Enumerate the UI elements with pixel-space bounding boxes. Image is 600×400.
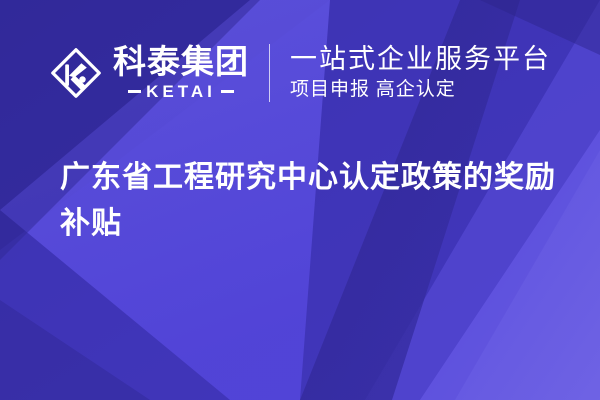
ketai-diamond-k-logo-icon	[49, 46, 103, 100]
tagline-secondary: 项目申报 高企认定	[290, 80, 551, 100]
title-block: 广东省工程研究中心认定政策的奖励补贴	[60, 155, 565, 247]
brand-name-en-row: KETAI	[128, 83, 234, 100]
tagline-primary: 一站式企业服务平台	[290, 45, 551, 73]
brand-name-cn: 科泰集团	[113, 45, 249, 78]
promo-banner: 科泰集团 KETAI 一站式企业服务平台 项目申报 高企认定 广东省工程研究中心…	[0, 0, 600, 400]
brand-lockup: 科泰集团 KETAI	[49, 45, 249, 100]
page-title: 广东省工程研究中心认定政策的奖励补贴	[60, 155, 565, 247]
dash-right-icon	[221, 90, 234, 93]
banner-header: 科泰集团 KETAI 一站式企业服务平台 项目申报 高企认定	[0, 0, 600, 145]
tagline-block: 一站式企业服务平台 项目申报 高企认定	[290, 45, 551, 99]
vertical-divider	[269, 44, 270, 102]
brand-name-en: KETAI	[146, 83, 216, 100]
brand-wordmark: 科泰集团 KETAI	[113, 45, 249, 100]
dash-left-icon	[128, 90, 141, 93]
